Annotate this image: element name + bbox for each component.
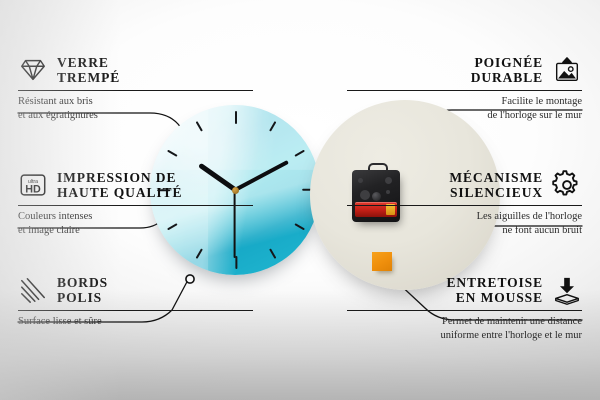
feature-subtitle-line2: ne font aucun bruit	[347, 224, 582, 238]
feature-title-line2: SILENCIEUX	[449, 185, 543, 200]
feature-subtitle-line2: et image claire	[18, 224, 253, 238]
feature-divider	[18, 205, 253, 206]
feature-subtitle: Couleurs intenses et image claire	[18, 210, 253, 238]
feature-title: IMPRESSION DE HAUTE QUALITÉ	[57, 170, 182, 200]
feature-subtitle-line1: Couleurs intenses	[18, 210, 253, 224]
feature-subtitle: Résistant aux bris et aux égratignures	[18, 95, 253, 123]
feature-mecanisme-silencieux: MÉCANISME SILENCIEUX Les aiguilles de l'…	[347, 170, 582, 239]
feature-title-line1: IMPRESSION DE	[57, 170, 182, 185]
feature-title-line1: VERRE	[57, 55, 120, 70]
hanging-frame-icon	[552, 55, 582, 85]
feature-subtitle-line2: de l'horloge sur le mur	[347, 109, 582, 123]
press-down-arrow-icon	[552, 275, 582, 305]
feature-title-line1: POIGNÉE	[471, 55, 543, 70]
feature-title: BORDS POLIS	[57, 275, 108, 305]
feature-entretoise-en-mousse: ENTRETOISE EN MOUSSE Permet de maintenir…	[347, 275, 582, 344]
feature-subtitle: Permet de maintenir une distance uniform…	[347, 315, 582, 343]
feature-title-line2: EN MOUSSE	[446, 290, 543, 305]
feature-title-line1: ENTRETOISE	[446, 275, 543, 290]
feature-subtitle: Facilite le montage de l'horloge sur le …	[347, 95, 582, 123]
feature-poignee-durable: POIGNÉE DURABLE Facilite le montage de l…	[347, 55, 582, 124]
feature-title-line1: MÉCANISME	[449, 170, 543, 185]
feature-subtitle-line1: Facilite le montage	[347, 95, 582, 109]
foam-spacer	[372, 252, 392, 271]
infographic-canvas: VERRE TREMPÉ Résistant aux bris et aux é…	[0, 0, 600, 400]
feature-title: MÉCANISME SILENCIEUX	[449, 170, 543, 200]
feature-subtitle-line1: Permet de maintenir une distance	[347, 315, 582, 329]
feature-divider	[18, 90, 253, 91]
feature-subtitle-line1: Les aiguilles de l'horloge	[347, 210, 582, 224]
feature-title-line2: HAUTE QUALITÉ	[57, 185, 182, 200]
feature-title: VERRE TREMPÉ	[57, 55, 120, 85]
feature-verre-trempe: VERRE TREMPÉ Résistant aux bris et aux é…	[18, 55, 253, 124]
feature-divider	[18, 310, 253, 311]
feature-title: ENTRETOISE EN MOUSSE	[446, 275, 543, 305]
feature-subtitle: Les aiguilles de l'horloge ne font aucun…	[347, 210, 582, 238]
feature-subtitle-line2: uniforme entre l'horloge et le mur	[347, 329, 582, 343]
feature-divider	[347, 310, 582, 311]
feature-title-line2: DURABLE	[471, 70, 543, 85]
feature-title-line2: POLIS	[57, 290, 108, 305]
feature-divider	[347, 90, 582, 91]
feature-impression-haute-qualite: ultra HD IMPRESSION DE HAUTE QUALITÉ Cou…	[18, 170, 253, 239]
svg-text:HD: HD	[25, 184, 41, 196]
feature-subtitle-line2: et aux égratignures	[18, 109, 253, 123]
diamond-icon	[18, 55, 48, 85]
feature-subtitle-line1: Résistant aux bris	[18, 95, 253, 109]
feature-divider	[347, 205, 582, 206]
gear-icon	[552, 170, 582, 200]
ultra-hd-icon: ultra HD	[18, 170, 48, 200]
feature-bords-polis: BORDS POLIS Surface lisse et sûre	[18, 275, 253, 329]
feature-title-line1: BORDS	[57, 275, 108, 290]
feature-title: POIGNÉE DURABLE	[471, 55, 543, 85]
feature-subtitle: Surface lisse et sûre	[18, 315, 253, 329]
feature-subtitle-line1: Surface lisse et sûre	[18, 315, 253, 329]
feature-title-line2: TREMPÉ	[57, 70, 120, 85]
polished-edges-icon	[18, 275, 48, 305]
